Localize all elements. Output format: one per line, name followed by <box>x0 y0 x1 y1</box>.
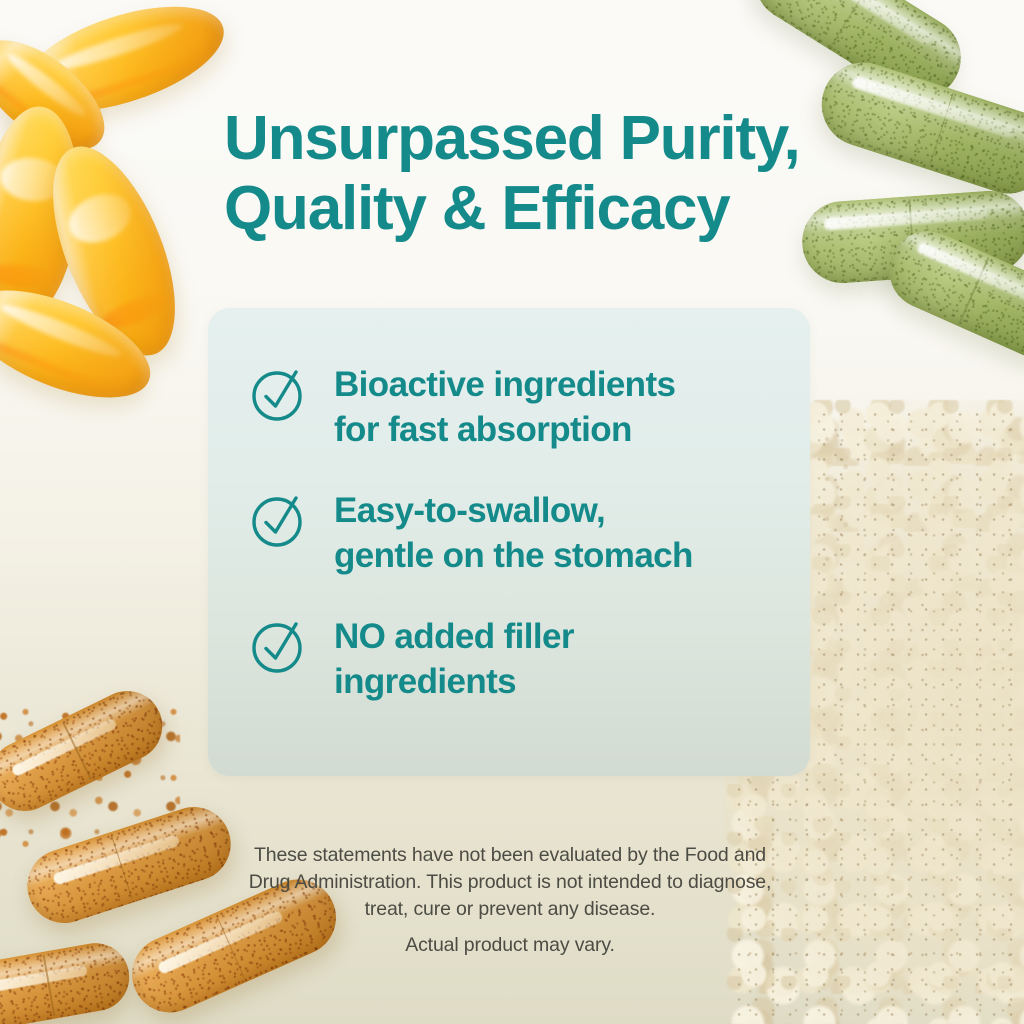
turmeric-capsule-icon <box>18 797 241 932</box>
capsule-highlight <box>850 75 1015 139</box>
turmeric-capsule-icon <box>0 938 135 1024</box>
benefit-line: NO added filler <box>334 614 574 659</box>
benefit-text: NO added filler ingredients <box>334 612 574 704</box>
capsule-seam <box>830 0 871 47</box>
green-herbal-capsule-icon <box>811 52 1024 205</box>
fish-oil-softgel-icon <box>0 20 123 171</box>
capsule-seam <box>929 93 954 167</box>
capsule-grain-texture <box>799 188 1024 286</box>
list-item: NO added filler ingredients <box>248 612 786 704</box>
fish-oil-softgel-icon <box>0 102 89 327</box>
capsule-highlight <box>53 834 180 885</box>
benefit-line: gentle on the stomach <box>334 533 693 578</box>
green-herbal-capsule-icon <box>799 188 1024 286</box>
capsule-highlight <box>0 965 88 994</box>
circle-check-icon <box>248 488 310 550</box>
circle-check-icon <box>248 614 310 676</box>
capsule-grain-texture <box>0 679 174 823</box>
capsule-highlight <box>916 241 1024 310</box>
capsule-seam <box>958 257 989 323</box>
page-title-line-1: Unsurpassed Purity, <box>224 104 824 174</box>
disclaimer-line: treat, cure or prevent any disease. <box>212 896 808 923</box>
page-title-line-2: Quality & Efficacy <box>224 174 824 244</box>
fish-oil-softgel-icon <box>10 0 236 132</box>
capsule-seam <box>111 835 133 899</box>
circle-check-icon <box>248 362 310 424</box>
benefit-line: for fast absorption <box>334 407 675 452</box>
capsule-seam <box>43 955 55 1016</box>
benefits-card: Bioactive ingredients for fast absorptio… <box>208 308 810 776</box>
capsule-highlight <box>10 717 117 777</box>
capsule-seam <box>62 722 91 779</box>
turmeric-capsule-icon <box>0 679 174 823</box>
disclaimer-line: These statements have not been evaluated… <box>212 842 808 869</box>
actual-product-note: Actual product may vary. <box>212 932 808 959</box>
list-item: Bioactive ingredients for fast absorptio… <box>248 360 786 452</box>
fish-oil-softgel-icon <box>28 130 200 372</box>
fda-disclaimer: These statements have not been evaluated… <box>212 842 808 923</box>
turmeric-powder-spill <box>0 700 180 850</box>
capsule-grain-texture <box>18 797 241 932</box>
capsule-grain-texture <box>877 219 1024 372</box>
capsule-grain-texture <box>811 52 1024 205</box>
page-title: Unsurpassed Purity, Quality & Efficacy <box>224 104 824 244</box>
disclaimer-line: Drug Administration. This product is not… <box>212 869 808 896</box>
benefit-line: Bioactive ingredients <box>334 362 675 407</box>
capsule-seam <box>909 200 916 275</box>
fish-oil-softgel-icon <box>0 268 165 419</box>
capsule-highlight <box>823 207 988 230</box>
list-item: Easy-to-swallow, gentle on the stomach <box>248 486 786 578</box>
capsule-grain-texture <box>740 0 977 114</box>
green-herbal-capsule-icon <box>740 0 977 114</box>
benefit-line: Easy-to-swallow, <box>334 488 693 533</box>
promo-graphic: Unsurpassed Purity, Quality & Efficacy B… <box>0 0 1024 1024</box>
capsule-highlight <box>788 0 933 47</box>
green-herbal-capsule-icon <box>877 219 1024 372</box>
benefit-text: Bioactive ingredients for fast absorptio… <box>334 360 675 452</box>
capsule-grain-texture <box>0 938 135 1024</box>
benefit-text: Easy-to-swallow, gentle on the stomach <box>334 486 693 578</box>
benefits-list: Bioactive ingredients for fast absorptio… <box>248 360 786 704</box>
benefit-line: ingredients <box>334 659 574 704</box>
